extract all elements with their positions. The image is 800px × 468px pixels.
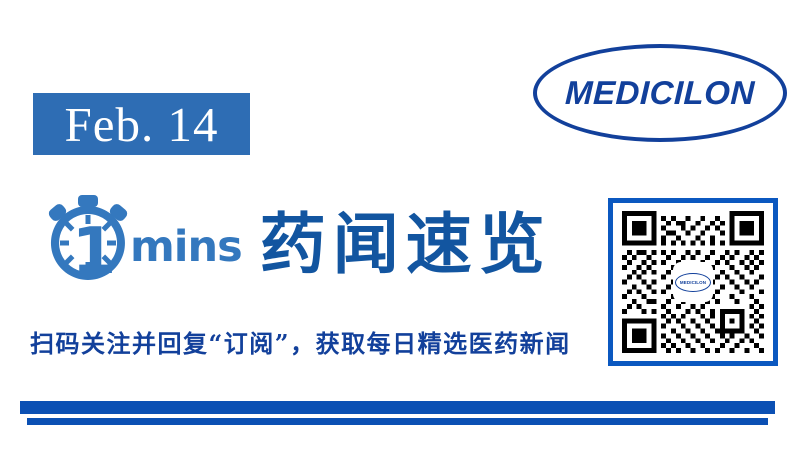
medicilon-logo: MEDICILON [533,44,787,142]
date-badge: Feb. 14 [33,93,250,155]
qr-code[interactable]: MEDICILON [608,198,778,366]
divider-rule-bottom [27,418,768,425]
headline-title: 药闻速览 [260,211,552,277]
qr-center-logo: MEDICILON [673,262,713,302]
qr-logo-wordmark: MEDICILON [680,280,706,285]
date-badge-label: Feb. 14 [65,100,219,149]
news-banner: Feb. 14 MEDICILON [0,0,800,468]
divider-rule-top [20,401,775,414]
qr-logo-ellipse: MEDICILON [675,273,711,292]
logo-wordmark: MEDICILON [531,44,788,142]
stopwatch-icon: 1 [38,193,138,293]
headline-row: 1 mins 药闻速览 [38,192,552,294]
mins-label: mins [130,226,242,269]
subtitle-text: 扫码关注并回复“订阅”，获取每日精选医药新闻 [30,324,571,359]
svg-text:1: 1 [72,215,117,289]
